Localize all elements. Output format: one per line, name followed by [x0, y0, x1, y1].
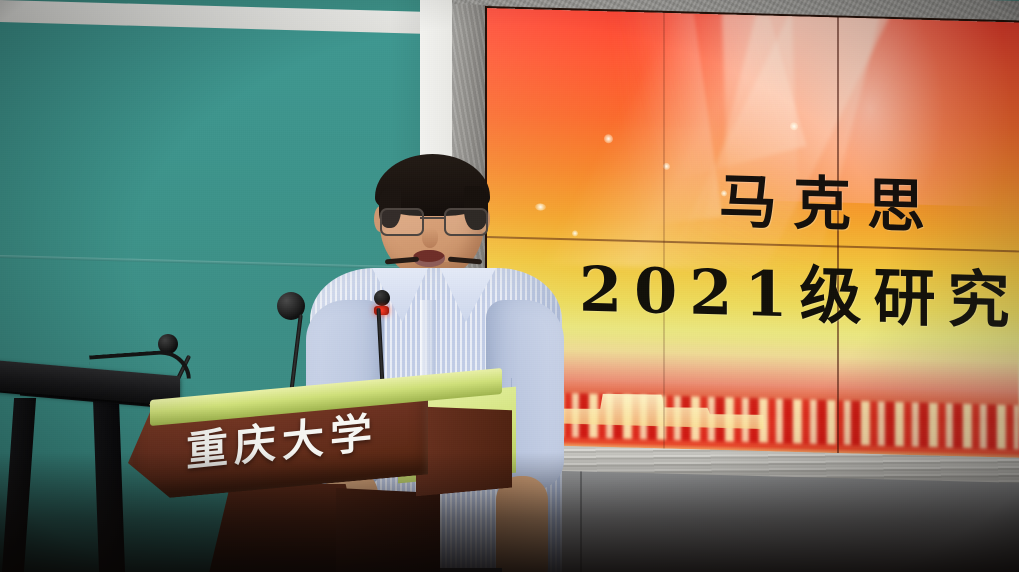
panel-seam-vertical — [663, 13, 665, 453]
podium-base-side — [336, 488, 440, 572]
microphone-capsule — [374, 290, 390, 306]
lecture-hall-photo: 马克思 2021级研究 — [0, 0, 1019, 572]
lens-right — [444, 208, 488, 236]
hair — [375, 154, 490, 216]
lens-left — [380, 208, 424, 236]
eyeglasses — [378, 208, 488, 234]
screen-sparkle — [790, 122, 798, 130]
screen-sparkle — [721, 190, 727, 196]
podium: 重庆大学 — [128, 380, 548, 572]
panel-seam-vertical — [837, 17, 839, 457]
glasses-bridge — [420, 217, 446, 219]
podium-side-face — [416, 398, 512, 497]
